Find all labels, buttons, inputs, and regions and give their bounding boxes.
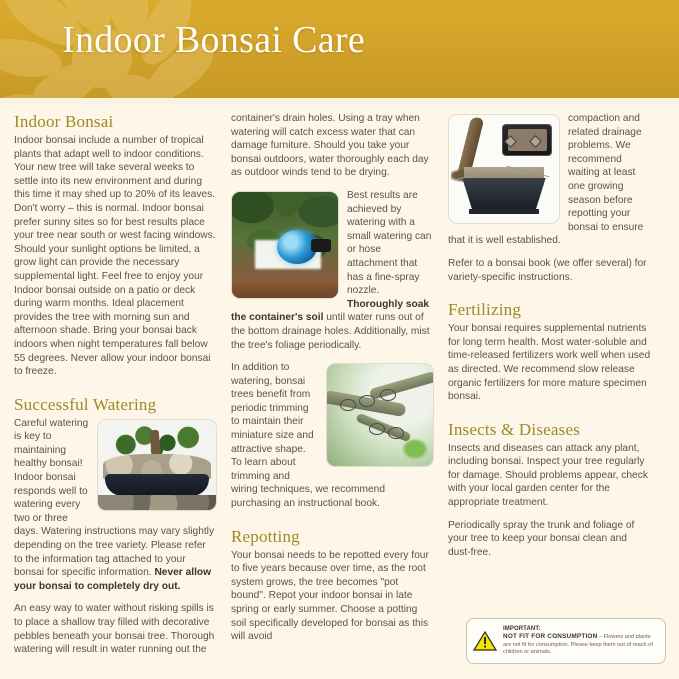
pot-drainage-mesh-diagram-photo: [448, 114, 560, 224]
page-body: Indoor Bonsai Indoor bonsai include a nu…: [0, 104, 679, 679]
warning-line2: NOT FIT FOR CONSUMPTION: [503, 633, 597, 640]
section-heading-successful-watering: Successful Watering: [14, 395, 217, 415]
paragraph-insects-a: Insects and diseases can attack any plan…: [448, 442, 651, 510]
section-heading-fertilizing: Fertilizing: [448, 300, 651, 320]
page-header: Indoor Bonsai Care: [0, 0, 679, 98]
column-right: compaction and related drainage problems…: [448, 112, 651, 679]
hose-spray-nozzle-photo: [231, 191, 339, 299]
section-heading-repotting: Repotting: [231, 527, 434, 547]
paragraph-drain-holes: container's drain holes. Using a tray wh…: [231, 112, 434, 180]
paragraph-fertilizing: Your bonsai requires supplemental nutrie…: [448, 322, 651, 404]
column-middle: container's drain holes. Using a tray wh…: [231, 112, 434, 679]
paragraph-refer-book: Refer to a bonsai book (we offer several…: [448, 257, 651, 284]
column-left: Indoor Bonsai Indoor bonsai include a nu…: [14, 112, 217, 679]
warning-text: IMPORTANT: NOT FIT FOR CONSUMPTION – Flo…: [503, 626, 659, 657]
important-warning-box: IMPORTANT: NOT FIT FOR CONSUMPTION – Flo…: [466, 618, 666, 664]
section-heading-indoor-bonsai: Indoor Bonsai: [14, 112, 217, 132]
wired-bonsai-branch-photo: [326, 363, 434, 467]
paragraph-indoor-bonsai: Indoor bonsai include a number of tropic…: [14, 134, 217, 379]
warning-line1: IMPORTANT:: [503, 626, 659, 633]
paragraph-best-results-text: Best results are achieved by watering wi…: [347, 190, 431, 296]
section-heading-insects-diseases: Insects & Diseases: [448, 420, 651, 440]
paragraph-repotting: Your bonsai needs to be repotted every f…: [231, 549, 434, 644]
paragraph-insects-b: Periodically spray the trunk and foliage…: [448, 519, 651, 560]
warning-triangle-icon: [473, 630, 497, 652]
bonsai-in-pebble-tray-photo: [97, 419, 217, 511]
three-column-layout: Indoor Bonsai Indoor bonsai include a nu…: [14, 112, 665, 679]
page-title: Indoor Bonsai Care: [62, 18, 365, 62]
paragraph-watering-b: An easy way to water without risking spi…: [14, 602, 217, 656]
